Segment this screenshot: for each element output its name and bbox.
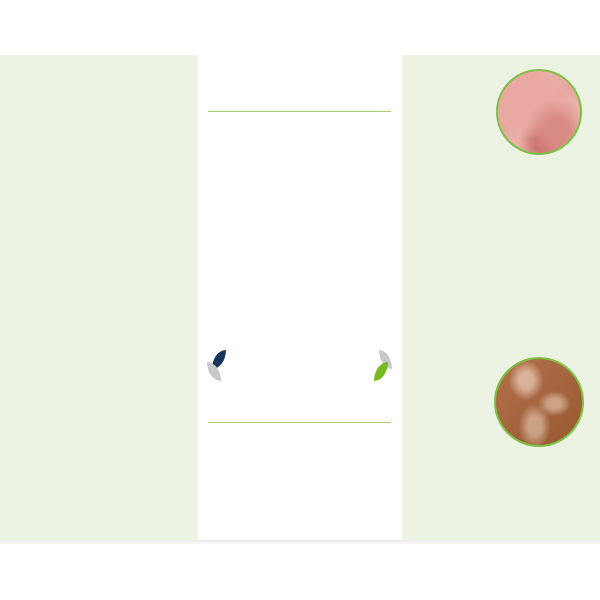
section-divider-2 bbox=[208, 422, 391, 423]
page-shadow bbox=[0, 540, 600, 545]
right-panel bbox=[402, 55, 600, 540]
decorative-petal-pattern-top bbox=[0, 55, 198, 185]
leaf-decoration-left bbox=[206, 350, 230, 384]
green-leaf-icon bbox=[374, 362, 388, 381]
leaf-decoration-right bbox=[371, 350, 395, 384]
hypopigmentation-skin-photo bbox=[494, 357, 584, 447]
decorative-petal-pattern-bottom bbox=[58, 435, 198, 540]
middle-panel bbox=[198, 55, 402, 540]
brochure-page bbox=[0, 55, 600, 540]
section-divider bbox=[208, 111, 391, 112]
left-panel bbox=[0, 55, 198, 540]
infant-face-eczema-photo bbox=[496, 69, 582, 155]
